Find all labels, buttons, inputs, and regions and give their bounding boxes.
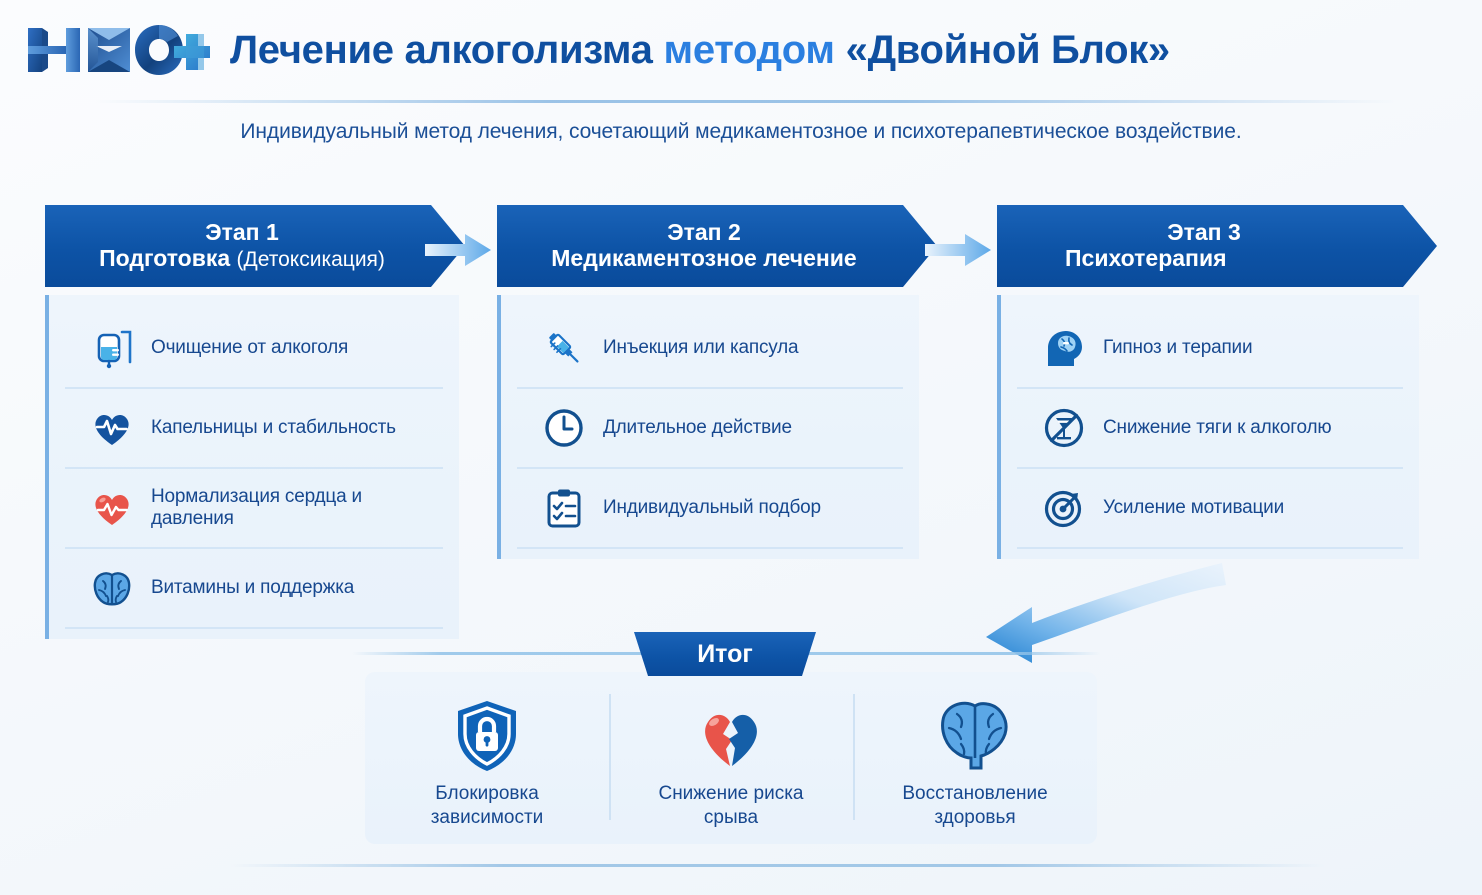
result-item-3[interactable]: Восстановление здоровья [853, 688, 1097, 828]
stage-1-feature-4[interactable]: Витамины и поддержка [65, 549, 443, 629]
no-alcohol-icon [1041, 405, 1087, 451]
stage-2-feature-1-label: Инъекция или капсула [603, 337, 798, 359]
stage-1-feature-4-label: Витамины и поддержка [151, 577, 354, 599]
stage-card-3[interactable]: Этап 3 Психотерапия Гипноз и терапии [997, 205, 1437, 559]
stage-1-to-2-arrow [425, 233, 491, 267]
stage-3-title: Психотерапия [1017, 245, 1391, 272]
result-item-1-line2: зависимости [431, 807, 544, 828]
result-item-2[interactable]: Снижение риска срыва [609, 688, 853, 828]
brain-big-icon [933, 696, 1017, 776]
stage-3-feature-2-label: Снижение тяги к алкоголю [1103, 417, 1331, 439]
stage-3-body: Гипноз и терапии Снижение тяги к алкогол… [997, 295, 1419, 559]
result-panel: Блокировка зависимости Снижение риска ср… [365, 672, 1097, 844]
result-item-2-line1: Снижение риска [658, 783, 803, 804]
iv-drip-icon [89, 325, 135, 371]
stage-2-feature-3-label: Индивидуальный подбор [603, 497, 821, 519]
title-part-2: методом [664, 28, 835, 73]
result-item-1-label: Блокировка зависимости [431, 782, 544, 831]
stage-2-title: Медикаментозное лечение [517, 245, 891, 272]
stage-3-number: Этап 3 [1017, 220, 1391, 245]
stage-1-feature-3-label: Нормализация сердца и давления [151, 486, 443, 530]
heart-pulse-red-icon [89, 485, 135, 531]
stage-2-feature-2-label: Длительное действие [603, 417, 792, 439]
page-subtitle: Индивидуальный метод лечения, сочетающий… [0, 120, 1482, 144]
stage-2-body: Инъекция или капсула Длительное действие [497, 295, 919, 559]
stage-3-to-result-curved-arrow [960, 545, 1260, 675]
stage-card-1[interactable]: Этап 1 Подготовка (Детоксикация) [45, 205, 465, 639]
stage-1-header: Этап 1 Подготовка (Детоксикация) [45, 205, 465, 287]
title-part-3: «Двойной Блок» [846, 28, 1170, 73]
stage-2-to-3-arrow [925, 233, 991, 267]
result-item-3-label: Восстановление здоровья [902, 782, 1047, 831]
stage-1-title: Подготовка (Детоксикация) [65, 245, 419, 273]
stage-1-feature-2-label: Капельницы и стабильность [151, 417, 396, 439]
stage-2-feature-1[interactable]: Инъекция или капсула [517, 309, 903, 389]
clipboard-check-icon [541, 485, 587, 531]
result-item-1[interactable]: Блокировка зависимости [365, 688, 609, 828]
result-item-2-line2: срыва [704, 807, 758, 828]
title-part-1: Лечение алкоголизма [230, 28, 653, 73]
stage-1-feature-1-label: Очищение от алкоголя [151, 337, 348, 359]
result-item-1-line1: Блокировка [435, 783, 539, 804]
result-item-3-line1: Восстановление [902, 783, 1047, 804]
stage-1-title-suffix: (Детоксикация) [237, 248, 385, 271]
stage-card-2[interactable]: Этап 2 Медикаментозное лечение [497, 205, 937, 559]
result-item-3-line2: здоровья [934, 807, 1015, 828]
result-item-2-label: Снижение риска срыва [658, 782, 803, 831]
page-title: Лечение алкоголизма методом «Двойной Бло… [230, 28, 1170, 73]
page-header: Лечение алкоголизма методом «Двойной Бло… [0, 0, 1482, 100]
stage-1-number: Этап 1 [65, 220, 419, 245]
stage-1-feature-3[interactable]: Нормализация сердца и давления [65, 469, 443, 549]
stage-1-body: Очищение от алкоголя Капельницы и стабил… [45, 295, 459, 639]
broken-heart-icon [689, 696, 773, 776]
stage-3-feature-2[interactable]: Снижение тяги к алкоголю [1017, 389, 1403, 469]
stage-3-header: Этап 3 Психотерапия [997, 205, 1437, 287]
neo-plus-logo [26, 22, 212, 78]
stage-2-header: Этап 2 Медикаментозное лечение [497, 205, 937, 287]
stage-2-number: Этап 2 [517, 220, 891, 245]
syringe-icon [541, 325, 587, 371]
footer-divider [230, 864, 1325, 867]
stage-3-feature-3[interactable]: Усиление мотивации [1017, 469, 1403, 549]
head-brain-icon [1041, 325, 1087, 371]
stage-1-title-main: Подготовка [99, 245, 230, 271]
stage-2-feature-3[interactable]: Индивидуальный подбор [517, 469, 903, 549]
brain-icon [89, 565, 135, 611]
stage-1-feature-1[interactable]: Очищение от алкоголя [65, 309, 443, 389]
clock-icon [541, 405, 587, 451]
stage-2-feature-2[interactable]: Длительное действие [517, 389, 903, 469]
heart-pulse-blue-icon [89, 405, 135, 451]
stage-3-feature-1-label: Гипноз и терапии [1103, 337, 1252, 359]
target-arrow-icon [1041, 485, 1087, 531]
stage-3-feature-1[interactable]: Гипноз и терапии [1017, 309, 1403, 389]
stage-3-feature-3-label: Усиление мотивации [1103, 497, 1284, 519]
stage-1-feature-2[interactable]: Капельницы и стабильность [65, 389, 443, 469]
shield-lock-icon [445, 696, 529, 776]
result-badge: Итог [634, 632, 816, 676]
header-divider [95, 100, 1395, 103]
stages-row: Этап 1 Подготовка (Детоксикация) [0, 205, 1482, 565]
